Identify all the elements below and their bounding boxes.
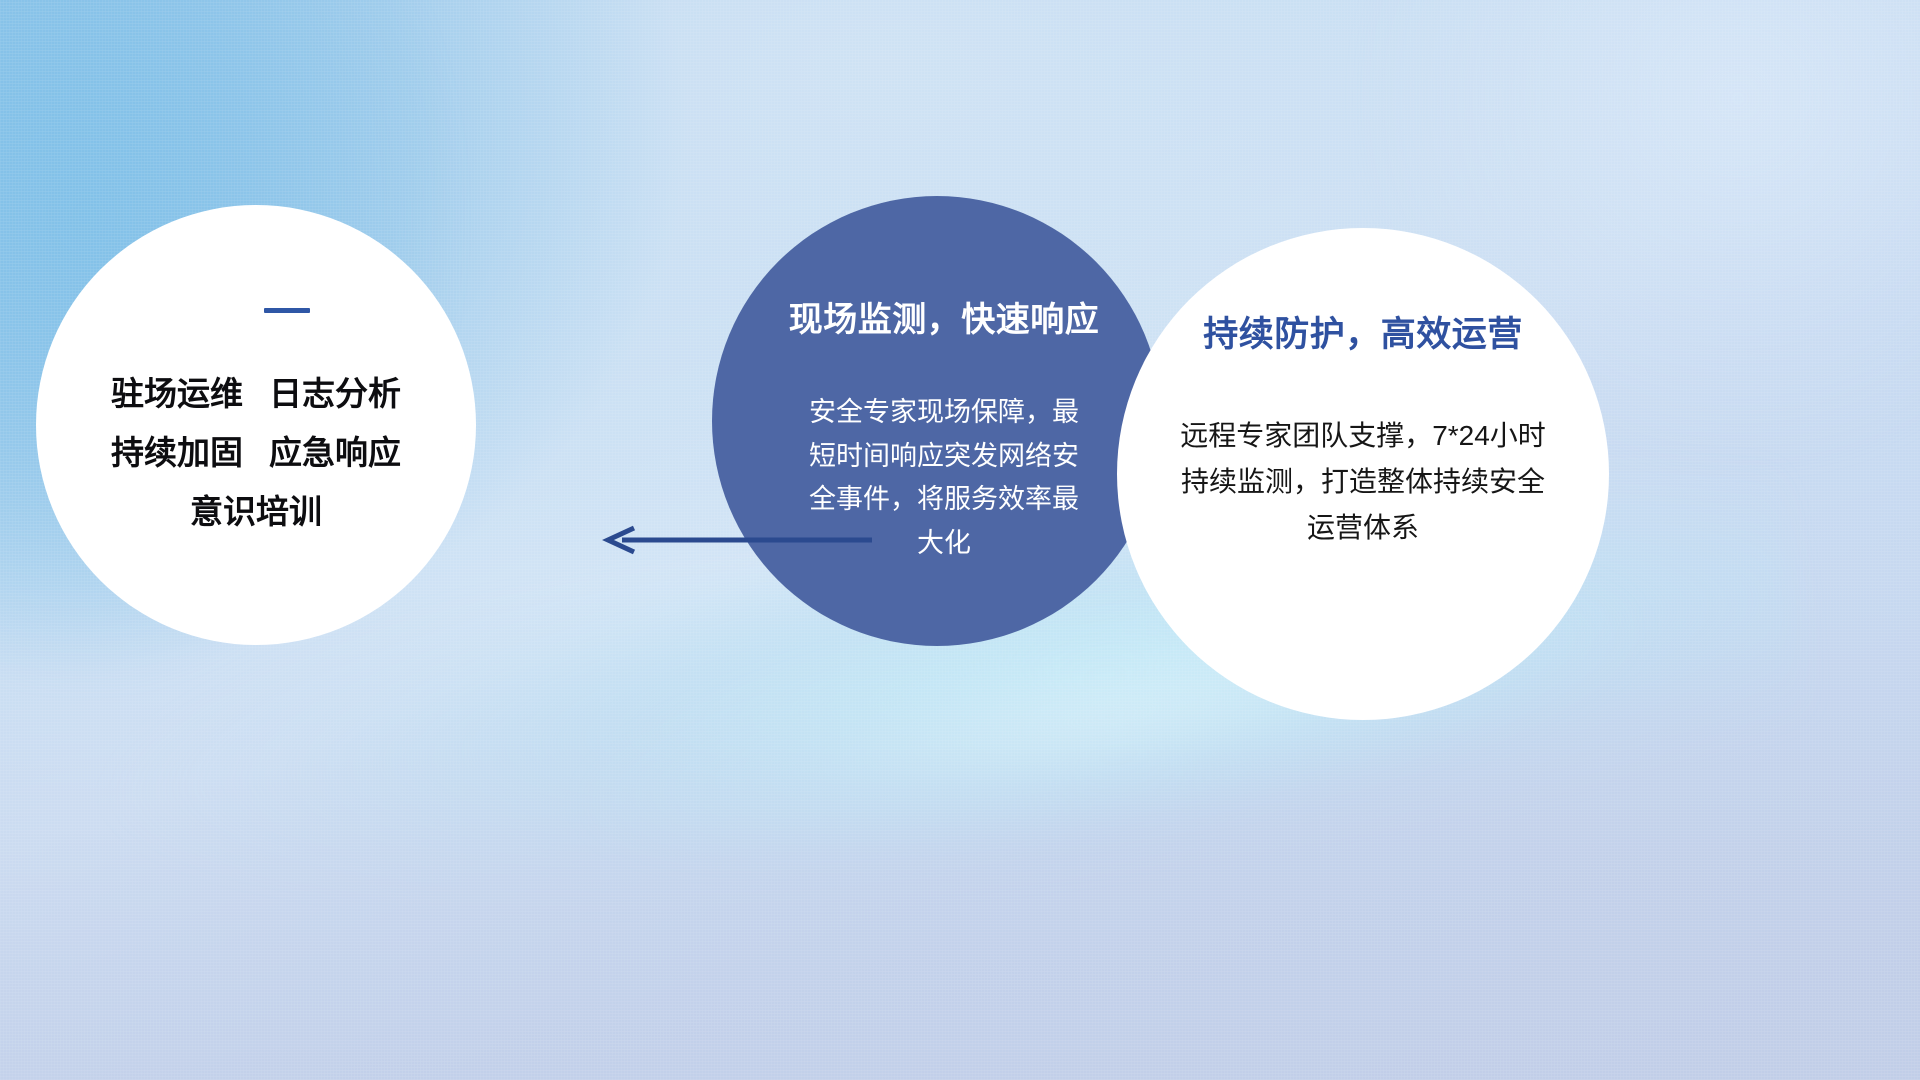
list-item: 驻场运维日志分析 xyxy=(70,365,442,424)
middle-circle-card[interactable]: 现场监测，快速响应 安全专家现场保障，最短时间响应突发网络安全事件，将服务效率最… xyxy=(712,196,1162,646)
right-circle-body: 远程专家团队支撑，7*24小时持续监测，打造整体持续安全运营体系 xyxy=(1173,413,1553,551)
left-circle-content: 驻场运维日志分析 持续加固应急响应 意识培训 xyxy=(36,205,476,645)
accent-dash-icon xyxy=(264,308,310,313)
capability-label: 意识培训 xyxy=(190,493,322,530)
right-circle-content: 持续防护，高效运营 远程专家团队支撑，7*24小时持续监测，打造整体持续安全运营… xyxy=(1117,228,1609,720)
left-circle-capability-list: 驻场运维日志分析 持续加固应急响应 意识培训 xyxy=(70,365,442,541)
left-circle-card[interactable]: 驻场运维日志分析 持续加固应急响应 意识培训 xyxy=(36,205,476,645)
arrow-connector xyxy=(600,520,880,560)
capability-label: 应急响应 xyxy=(269,434,401,471)
background-lower-veil xyxy=(0,583,1920,1080)
right-circle-title: 持续防护，高效运营 xyxy=(1203,306,1523,357)
list-item: 持续加固应急响应 xyxy=(70,424,442,483)
middle-circle-title: 现场监测，快速响应 xyxy=(789,292,1100,341)
arrow-left-icon xyxy=(600,520,880,560)
capability-label: 驻场运维 xyxy=(111,375,243,412)
capability-label: 持续加固 xyxy=(111,434,243,471)
list-item: 意识培训 xyxy=(70,483,442,542)
middle-circle-content: 现场监测，快速响应 安全专家现场保障，最短时间响应突发网络安全事件，将服务效率最… xyxy=(712,196,1162,646)
capability-label: 日志分析 xyxy=(269,375,401,412)
right-circle-card[interactable]: 持续防护，高效运营 远程专家团队支撑，7*24小时持续监测，打造整体持续安全运营… xyxy=(1117,228,1609,720)
